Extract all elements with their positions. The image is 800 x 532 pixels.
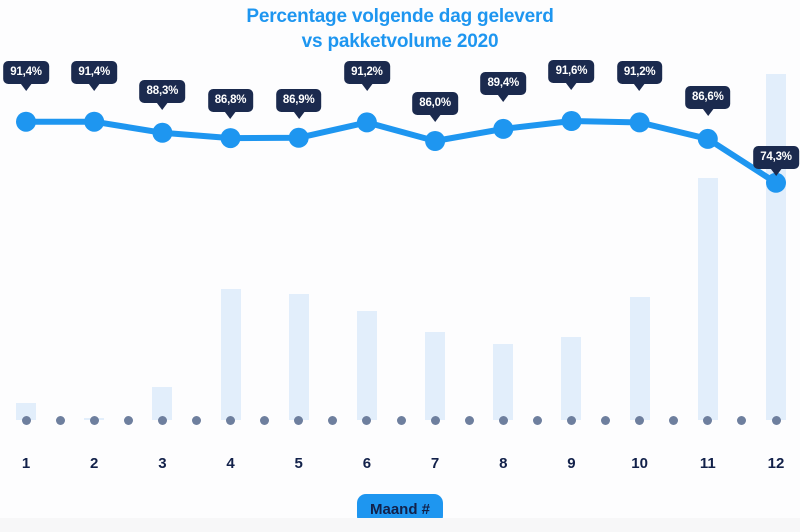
x-tick-10: 10 bbox=[631, 455, 648, 472]
data-label-month-5: 86,9% bbox=[276, 89, 322, 112]
bottom-strip bbox=[0, 518, 800, 532]
data-label-month-12: 74,3% bbox=[753, 146, 799, 169]
line-series-percentage bbox=[0, 0, 800, 440]
data-label-month-7: 86,0% bbox=[412, 92, 458, 115]
line-marker-month-11[interactable] bbox=[698, 129, 718, 149]
data-label-month-2: 91,4% bbox=[71, 61, 117, 84]
data-label-month-1: 91,4% bbox=[3, 61, 49, 84]
line-marker-month-2[interactable] bbox=[84, 112, 104, 132]
line-path bbox=[26, 121, 776, 183]
x-tick-7: 7 bbox=[431, 455, 439, 472]
x-tick-11: 11 bbox=[700, 455, 716, 472]
x-tick-8: 8 bbox=[499, 455, 507, 472]
plot-area: 91,4%91,4%88,3%86,8%86,9%91,2%86,0%89,4%… bbox=[0, 0, 800, 440]
line-marker-month-8[interactable] bbox=[493, 119, 513, 139]
x-tick-3: 3 bbox=[158, 455, 166, 472]
data-label-month-9: 91,6% bbox=[549, 60, 595, 83]
x-tick-6: 6 bbox=[363, 455, 371, 472]
line-marker-month-9[interactable] bbox=[562, 111, 582, 131]
line-marker-month-7[interactable] bbox=[425, 131, 445, 151]
line-marker-month-4[interactable] bbox=[221, 128, 241, 148]
data-label-month-3: 88,3% bbox=[140, 80, 186, 103]
line-marker-month-12[interactable] bbox=[766, 173, 786, 193]
x-tick-1: 1 bbox=[22, 455, 30, 472]
line-marker-month-5[interactable] bbox=[289, 128, 309, 148]
line-marker-month-1[interactable] bbox=[16, 112, 36, 132]
data-label-month-4: 86,8% bbox=[208, 89, 254, 112]
line-marker-month-3[interactable] bbox=[152, 123, 172, 143]
data-label-month-11: 86,6% bbox=[685, 86, 731, 109]
line-marker-month-10[interactable] bbox=[630, 112, 650, 132]
x-tick-2: 2 bbox=[90, 455, 98, 472]
line-marker-month-6[interactable] bbox=[357, 112, 377, 132]
data-label-month-6: 91,2% bbox=[344, 61, 390, 84]
data-label-month-10: 91,2% bbox=[617, 61, 663, 84]
x-tick-9: 9 bbox=[567, 455, 575, 472]
x-tick-12: 12 bbox=[768, 455, 785, 472]
data-label-month-8: 89,4% bbox=[480, 72, 526, 95]
x-tick-5: 5 bbox=[295, 455, 303, 472]
chart-container: Percentage volgende dag geleverd vs pakk… bbox=[0, 0, 800, 532]
x-tick-4: 4 bbox=[226, 455, 234, 472]
